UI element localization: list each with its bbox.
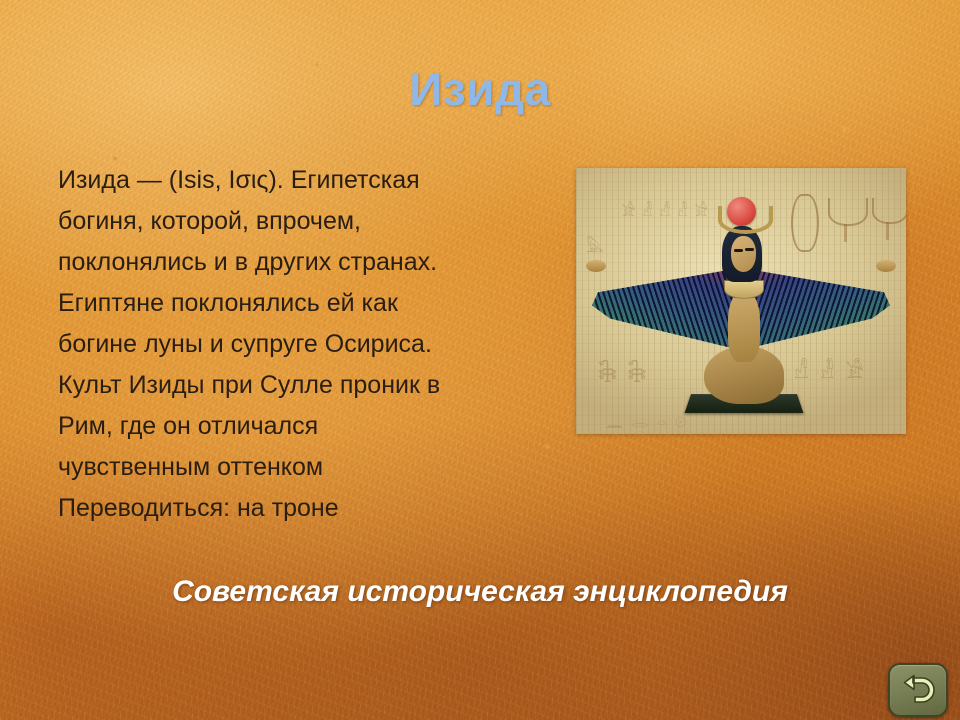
lotus-capital-glyph	[828, 198, 868, 226]
lotus-stem-glyph	[844, 224, 847, 242]
hieroglyph-row-bottom: 𓈖𓂋𓏏𓇳	[606, 408, 695, 432]
isis-right-hand	[876, 260, 896, 272]
isis-right-wing	[740, 264, 890, 358]
body-text-line: Переводиться: на троне	[58, 488, 528, 529]
isis-eye	[734, 249, 743, 252]
source-caption: Советская историческая энциклопедия	[0, 575, 960, 609]
body-text-block: Изида — (Isis, Ισις). Египетская богиня,…	[58, 160, 528, 529]
body-text-line: Рим, где он отличался	[58, 406, 528, 447]
slide-title: Изида	[0, 62, 960, 116]
body-text-line: Египтяне поклонялись ей как	[58, 283, 528, 324]
wing-feathers	[592, 264, 742, 358]
body-text-line: чувственным оттенком	[58, 447, 528, 488]
isis-eye	[745, 248, 754, 251]
back-arrow-icon	[901, 674, 935, 706]
isis-collar	[724, 280, 764, 299]
sun-disk-icon	[727, 197, 756, 226]
hieroglyph-row-left: 𓅓	[586, 232, 604, 258]
lotus-capital-glyph	[872, 198, 906, 224]
wing-feathers	[740, 264, 890, 358]
body-text-line: Культ Изиды при Сулле проник в	[58, 365, 528, 406]
isis-left-hand	[586, 260, 606, 272]
isis-face	[731, 236, 756, 272]
body-text-line: поклонялись и в других странах.	[58, 242, 528, 283]
cartouche-glyph	[791, 194, 819, 252]
back-button[interactable]	[888, 663, 948, 717]
hieroglyph-row-top: 𓀀𓁐𓀭𓁐𓀀	[622, 196, 715, 221]
lotus-flowers-glyph: 𓇗𓇗	[598, 354, 657, 390]
lotus-stem-glyph	[886, 222, 889, 240]
body-text-line: богиня, которой, впрочем,	[58, 201, 528, 242]
presentation-slide: Изида Изида — (Isis, Ισις). Египетская б…	[0, 0, 960, 720]
body-text-line: Изида — (Isis, Ισις). Египетская	[58, 160, 528, 201]
isis-torso	[728, 292, 760, 362]
isis-statue-image: 𓀀𓁐𓀭𓁐𓀀 𓅓 𓇗𓇗 𓀭𓁐𓀀 𓈖𓂋𓏏𓇳	[576, 168, 906, 434]
isis-left-wing	[592, 264, 742, 358]
body-text-line: богине луны и супруге Осириса.	[58, 324, 528, 365]
